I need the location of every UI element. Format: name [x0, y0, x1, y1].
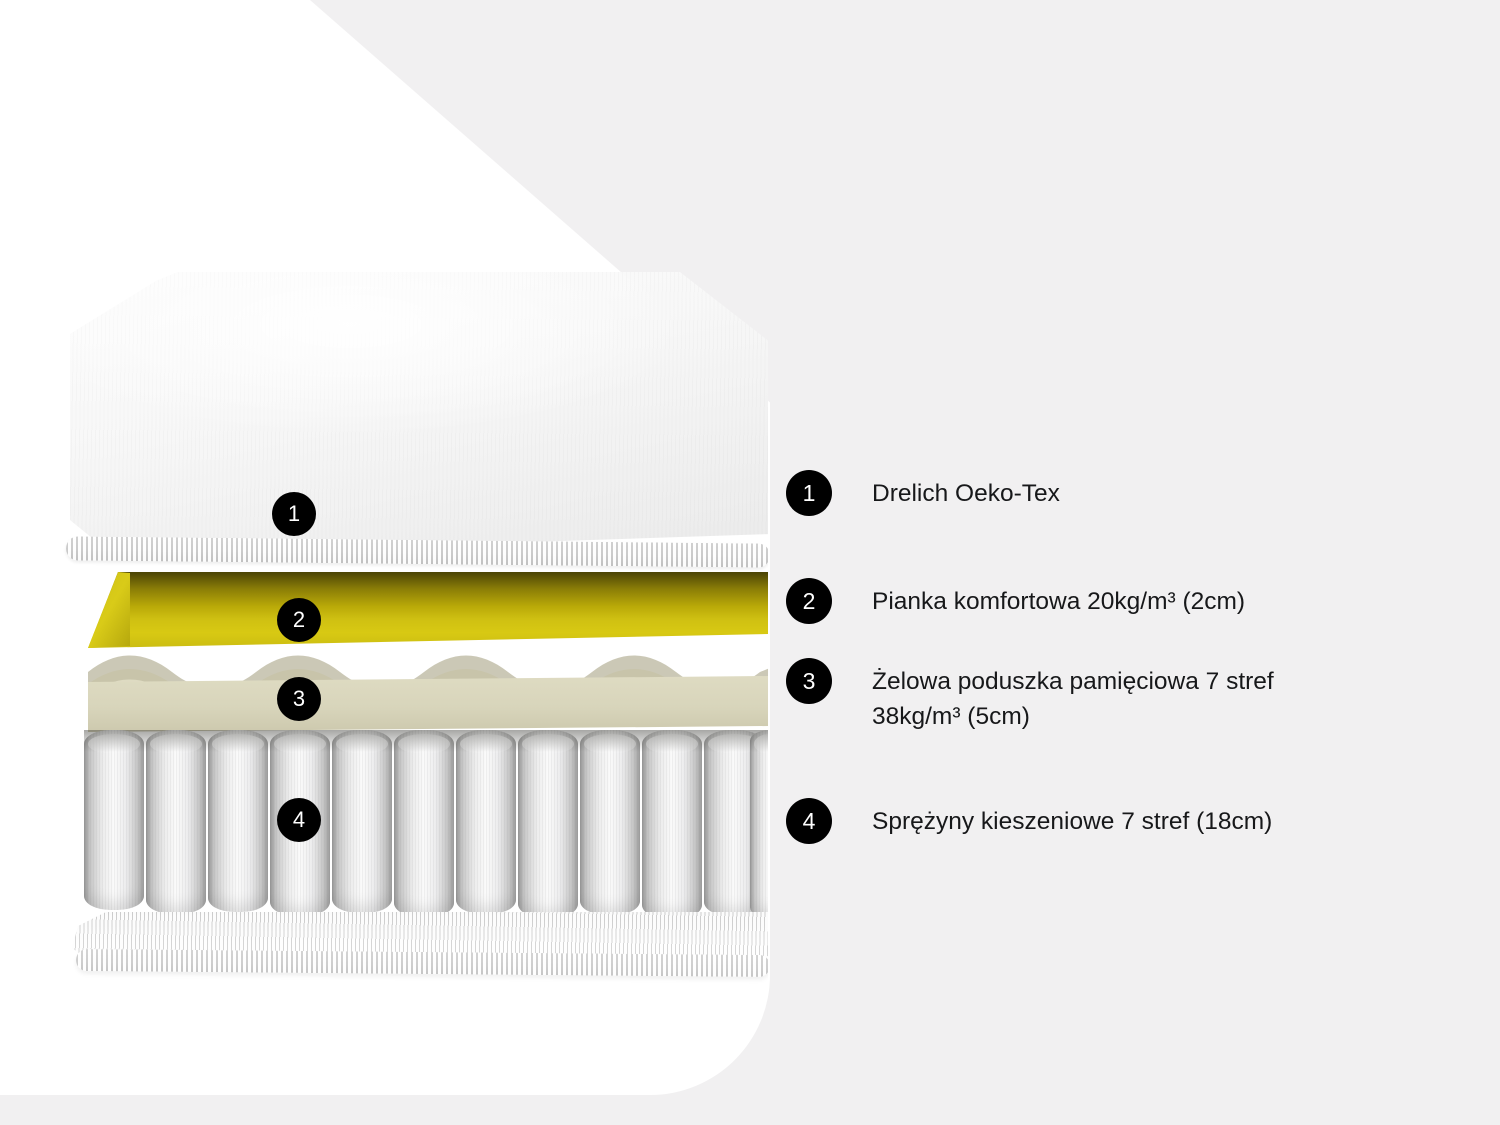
- pocket-spring: [642, 730, 702, 919]
- pocket-spring: [750, 730, 768, 918]
- badge-gel-memory-foam: 3: [277, 677, 321, 721]
- legend-label-4: Sprężyny kieszeniowe 7 stref (18cm): [872, 798, 1272, 839]
- mattress-layer-cover: [70, 272, 768, 564]
- pocket-spring: [332, 730, 392, 913]
- badge-comfort-foam: 2: [277, 598, 321, 642]
- pocket-spring: [84, 730, 144, 910]
- cover-top-surface: [70, 272, 768, 564]
- legend-label-2: Pianka komfortowa 20kg/m³ (2cm): [872, 578, 1245, 619]
- badge-cover: 1: [272, 492, 316, 536]
- pocket-spring: [208, 730, 268, 912]
- gel-foam-base-slab: [88, 676, 768, 732]
- badge-pocket-springs: 4: [277, 798, 321, 842]
- badge-number: 1: [288, 501, 300, 527]
- pocket-spring: [146, 730, 206, 914]
- legend-badge-number: 1: [803, 480, 816, 507]
- pocket-spring: [580, 730, 640, 915]
- legend-badge-number: 3: [803, 668, 816, 695]
- pocket-spring: [394, 730, 454, 917]
- legend-item-pocket-springs: 4 Sprężyny kieszeniowe 7 stref (18cm): [786, 798, 1272, 844]
- product-layer-diagram: 1 2 3 4 1 Drelich Oeko-Tex 2 Pianka ko: [0, 0, 1500, 1125]
- legend-badge-3: 3: [786, 658, 832, 704]
- badge-number: 4: [293, 807, 305, 833]
- comfort-foam-front-face: [88, 572, 768, 648]
- mattress-layer-gel-foam: [88, 646, 768, 732]
- base-piping-trim: [76, 949, 768, 977]
- pocket-spring: [518, 730, 578, 918]
- legend-badge-4: 4: [786, 798, 832, 844]
- legend-badge-2: 2: [786, 578, 832, 624]
- legend-badge-number: 4: [803, 808, 816, 835]
- legend-badge-1: 1: [786, 470, 832, 516]
- mattress-illustration: 1 2 3 4: [0, 0, 768, 1125]
- badge-number: 3: [293, 686, 305, 712]
- legend-item-gel-foam: 3 Żelowa poduszka pamięciowa 7 stref 38k…: [786, 658, 1274, 734]
- mattress-layer-pocket-springs: [84, 730, 768, 930]
- legend-badge-number: 2: [803, 588, 816, 615]
- springs-top-shadow: [84, 730, 768, 752]
- legend-item-comfort-foam: 2 Pianka komfortowa 20kg/m³ (2cm): [786, 578, 1245, 624]
- legend-label-3: Żelowa poduszka pamięciowa 7 stref 38kg/…: [872, 658, 1274, 734]
- comfort-foam-side-face: [88, 572, 130, 648]
- legend-label-1: Drelich Oeko-Tex: [872, 470, 1060, 511]
- pocket-spring: [456, 730, 516, 914]
- mattress-layer-comfort-foam: [88, 572, 768, 648]
- legend-item-cover: 1 Drelich Oeko-Tex: [786, 470, 1060, 516]
- badge-number: 2: [293, 607, 305, 633]
